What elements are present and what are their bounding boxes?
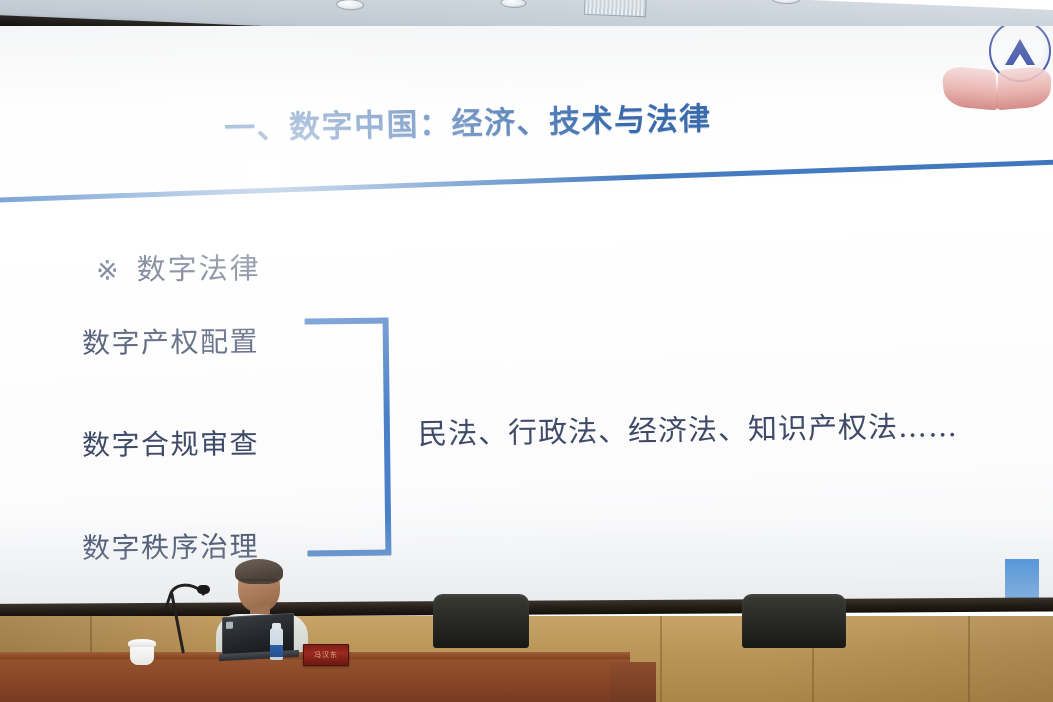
open-book-icon [943,64,1053,114]
list-item: 数字产权配置 [82,320,259,362]
lecture-hall-photo: 一、数字中国：经济、技术与法律 ※ 数字法律 数字产权配置 数字合规审查 数字秩… [0,0,1053,702]
teacup-lid [128,639,156,647]
laptop-logo-icon [226,622,233,629]
ceiling-light-icon [771,0,801,5]
section-marker-row: ※ 数字法律 [96,245,261,289]
book-left-page [941,65,998,110]
podium-side-panel [610,662,656,702]
grouping-bracket [305,317,392,556]
name-placard-text: 冯汉东 [314,650,338,660]
projection-screen: 一、数字中国：经济、技术与法律 ※ 数字法律 数字产权配置 数字合规审查 数字秩… [0,26,1053,610]
water-bottle-cap [272,623,281,629]
list-item: 数字秩序治理 [82,525,259,567]
university-logo [939,26,1053,116]
reference-mark-icon: ※ [96,256,119,287]
microphone-head-icon [197,585,210,594]
ceiling-light-icon [500,0,526,8]
book-right-page [996,65,1053,110]
presentation-slide: 一、数字中国：经济、技术与法律 ※ 数字法律 数字产权配置 数字合规审查 数字秩… [0,26,1053,610]
water-bottle-label [270,645,283,657]
bracket-bottom-arm [307,550,389,557]
title-divider-rule [0,159,1053,203]
list-item: 数字合规审查 [82,422,259,464]
chair [433,594,529,648]
right-legal-fields-text: 民法、行政法、经济法、知识产权法…… [418,403,959,453]
bracket-side-arm [383,317,392,555]
chair [742,594,846,648]
ceiling-vent [584,0,647,17]
bracket-top-arm [305,318,387,325]
ceiling-light-icon [336,0,364,11]
section-label: 数字法律 [136,245,260,288]
glasses-icon [241,579,277,588]
slide-title: 一、数字中国：经济、技术与法律 [224,93,712,148]
name-placard: 冯汉东 [303,644,349,666]
emblem-notch-icon [1013,54,1027,65]
